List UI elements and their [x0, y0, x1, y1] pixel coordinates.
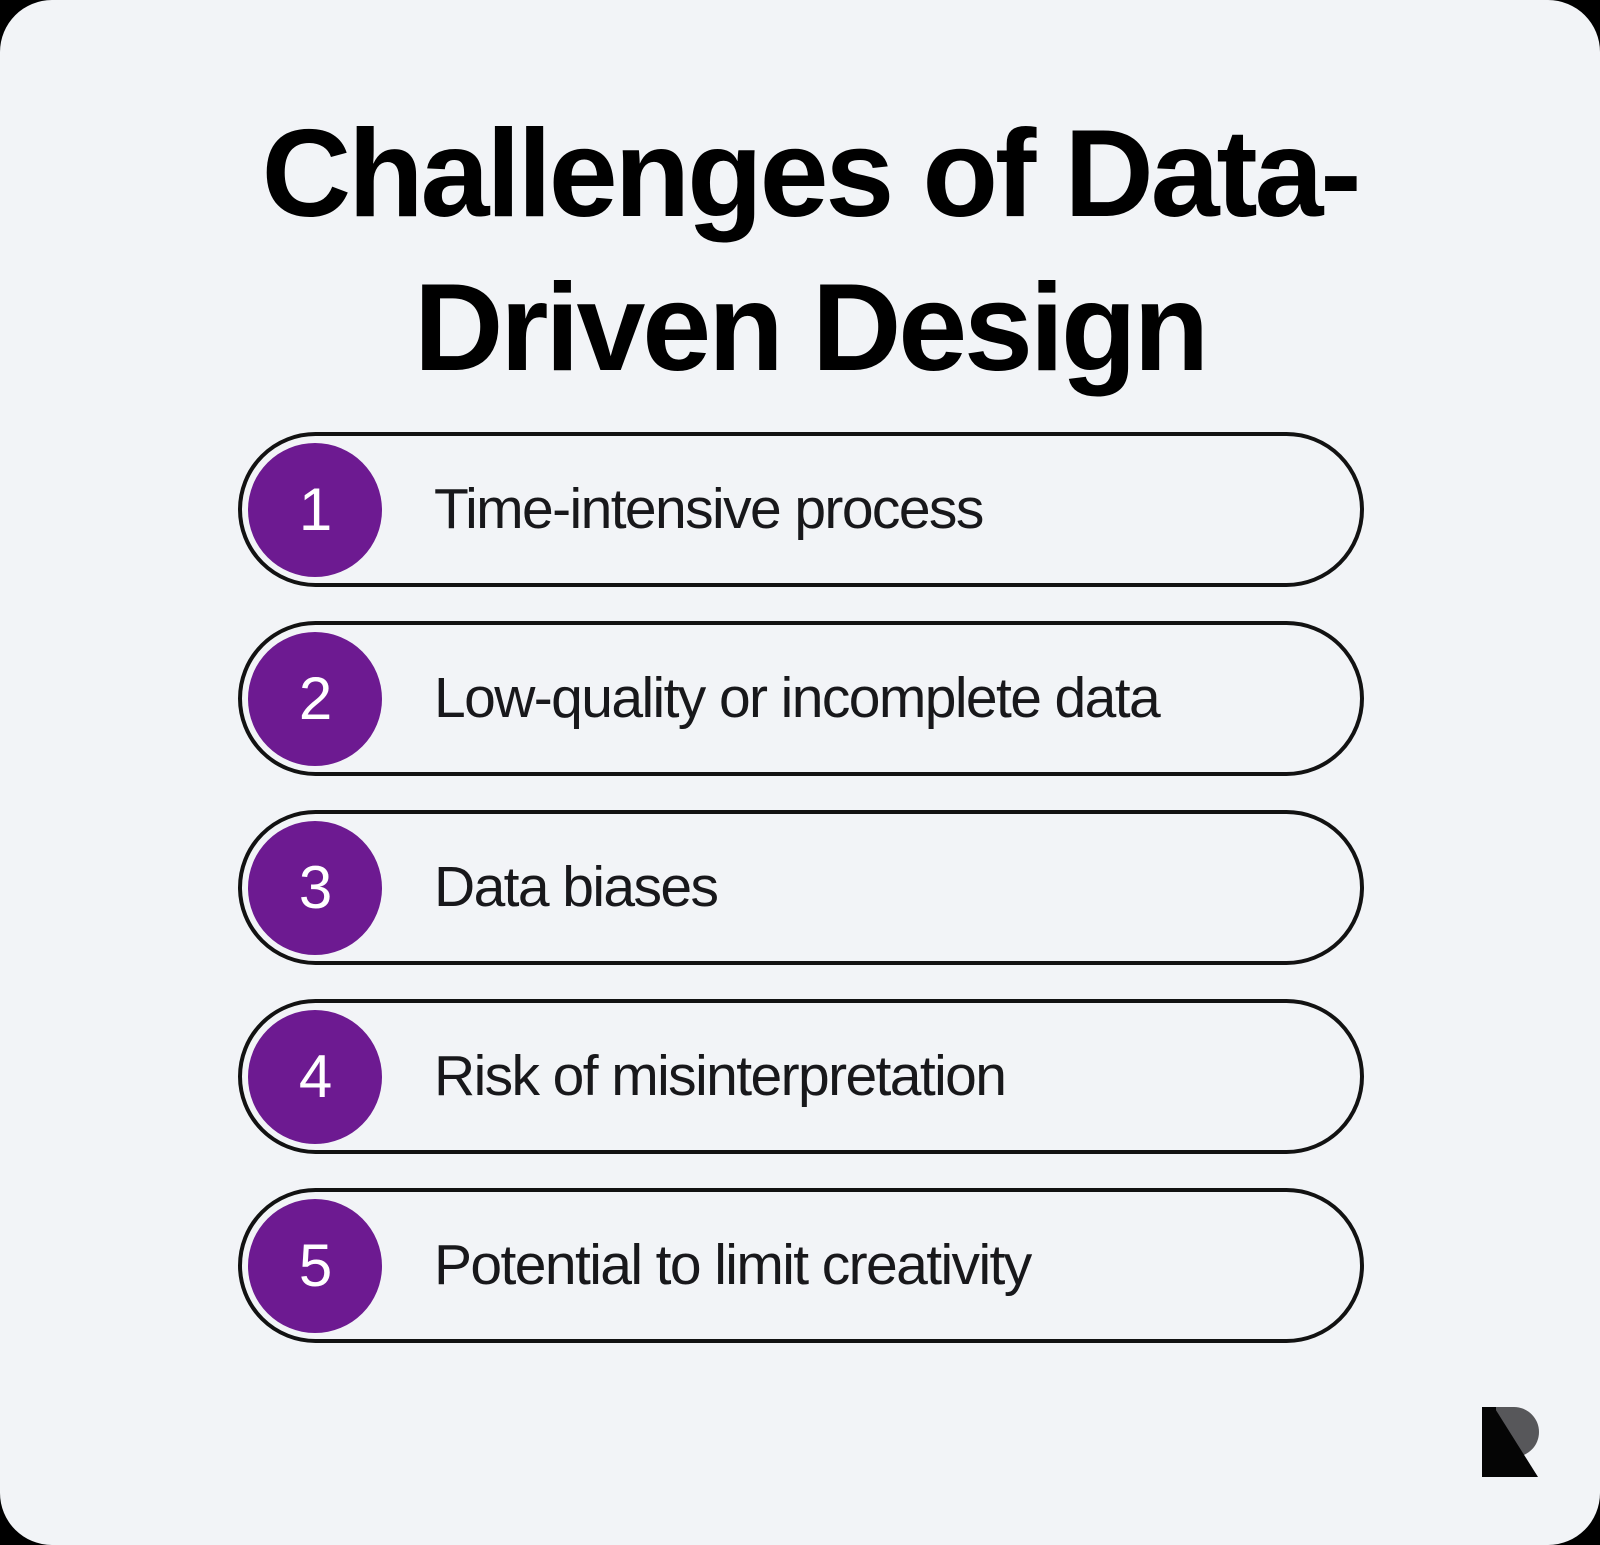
page-title: Challenges of Data- Driven Design	[240, 98, 1380, 406]
number-badge: 4	[248, 1010, 382, 1144]
infographic-card: Challenges of Data- Driven Design 1 Time…	[0, 0, 1600, 1545]
badge-number: 2	[299, 669, 331, 729]
list-item-label: Time-intensive process	[434, 478, 983, 541]
challenges-list: 1 Time-intensive process 2 Low-quality o…	[238, 432, 1364, 1343]
list-item[interactable]: 4 Risk of misinterpretation	[238, 999, 1364, 1154]
badge-number: 5	[299, 1236, 331, 1296]
list-item[interactable]: 1 Time-intensive process	[238, 432, 1364, 587]
number-badge: 1	[248, 443, 382, 577]
list-item-label: Risk of misinterpretation	[434, 1045, 1005, 1108]
list-item[interactable]: 3 Data biases	[238, 810, 1364, 965]
list-item-label: Data biases	[434, 856, 717, 919]
number-badge: 2	[248, 632, 382, 766]
badge-number: 4	[299, 1047, 331, 1107]
list-item[interactable]: 5 Potential to limit creativity	[238, 1188, 1364, 1343]
list-item[interactable]: 2 Low-quality or incomplete data	[238, 621, 1364, 776]
badge-number: 3	[299, 858, 331, 918]
brand-logo	[1468, 1399, 1540, 1485]
list-item-label: Low-quality or incomplete data	[434, 667, 1159, 730]
brand-r-logo-icon	[1468, 1399, 1540, 1485]
number-badge: 5	[248, 1199, 382, 1333]
number-badge: 3	[248, 821, 382, 955]
badge-number: 1	[299, 480, 331, 540]
list-item-label: Potential to limit creativity	[434, 1234, 1031, 1297]
